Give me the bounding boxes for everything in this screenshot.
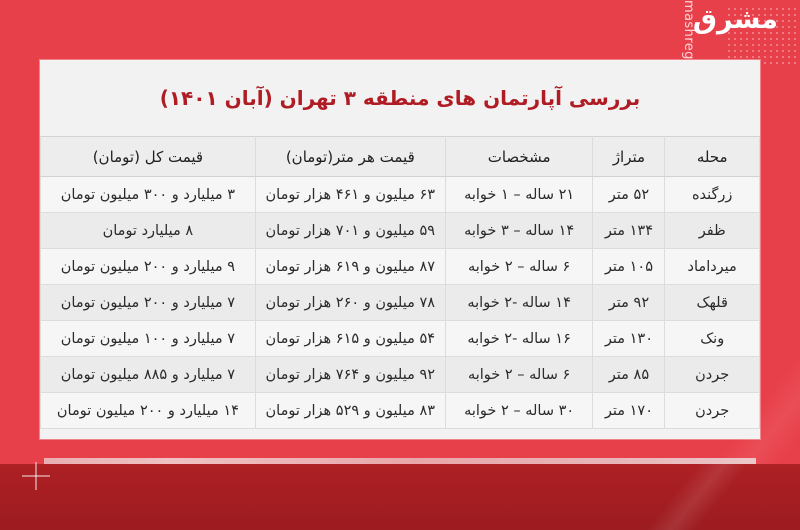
infographic-canvas: مشرق mashreghnews.ir بررسی آپارتمان های …: [0, 0, 800, 530]
cell-price-per-meter: ۷۸ میلیون و ۲۶۰ هزار تومان: [255, 285, 445, 321]
cell-price-per-meter: ۶۳ میلیون و ۴۶۱ هزار تومان: [255, 177, 445, 213]
table-row: جردن ۸۵ متر ۶ ساله – ۲ خوابه ۹۲ میلیون و…: [41, 357, 760, 393]
cell-specs: ۱۶ ساله -۲ خوابه: [445, 321, 593, 357]
cell-specs: ۳۰ ساله – ۲ خوابه: [445, 393, 593, 429]
column-header-area: متراژ: [593, 137, 665, 177]
cell-area: ۱۰۵ متر: [593, 249, 665, 285]
cell-neighborhood: میرداماد: [665, 249, 760, 285]
column-header-total-price: قیمت کل (تومان): [41, 137, 256, 177]
cell-price-per-meter: ۸۷ میلیون و ۶۱۹ هزار تومان: [255, 249, 445, 285]
cell-area: ۸۵ متر: [593, 357, 665, 393]
cell-specs: ۶ ساله – ۲ خوابه: [445, 249, 593, 285]
cell-total-price: ۷ میلیارد و ۸۸۵ میلیون تومان: [41, 357, 256, 393]
cell-area: ۵۲ متر: [593, 177, 665, 213]
cell-area: ۹۲ متر: [593, 285, 665, 321]
cell-price-per-meter: ۹۲ میلیون و ۷۶۴ هزار تومان: [255, 357, 445, 393]
cell-area: ۱۳۰ متر: [593, 321, 665, 357]
table-row: ظفر ۱۳۴ متر ۱۴ ساله – ۳ خوابه ۵۹ میلیون …: [41, 213, 760, 249]
content-card: بررسی آپارتمان های منطقه ۳ تهران (آبان ۱…: [40, 60, 760, 439]
cell-price-per-meter: ۵۴ میلیون و ۶۱۵ هزار تومان: [255, 321, 445, 357]
cell-total-price: ۷ میلیارد و ۱۰۰ میلیون تومان: [41, 321, 256, 357]
cell-total-price: ۳ میلیارد و ۳۰۰ میلیون تومان: [41, 177, 256, 213]
cell-specs: ۶ ساله – ۲ خوابه: [445, 357, 593, 393]
card-footer-spacer: [40, 429, 760, 439]
cell-specs: ۱۴ ساله -۲ خوابه: [445, 285, 593, 321]
cell-neighborhood: ظفر: [665, 213, 760, 249]
table-body: زرگنده ۵۲ متر ۲۱ ساله – ۱ خوابه ۶۳ میلیو…: [41, 177, 760, 429]
cell-total-price: ۷ میلیارد و ۲۰۰ میلیون تومان: [41, 285, 256, 321]
cell-total-price: ۹ میلیارد و ۲۰۰ میلیون تومان: [41, 249, 256, 285]
table-row: میرداماد ۱۰۵ متر ۶ ساله – ۲ خوابه ۸۷ میل…: [41, 249, 760, 285]
cell-total-price: ۱۴ میلیارد و ۲۰۰ میلیون تومان: [41, 393, 256, 429]
cell-neighborhood: ونک: [665, 321, 760, 357]
column-header-price-per-meter: قیمت هر متر(تومان): [255, 137, 445, 177]
cell-neighborhood: قلهک: [665, 285, 760, 321]
cell-price-per-meter: ۵۹ میلیون و ۷۰۱ هزار تومان: [255, 213, 445, 249]
title-bar: بررسی آپارتمان های منطقه ۳ تهران (آبان ۱…: [40, 60, 760, 136]
cell-total-price: ۸ میلیارد تومان: [41, 213, 256, 249]
cell-area: ۱۳۴ متر: [593, 213, 665, 249]
dot-pattern-decoration: [726, 6, 796, 64]
mashregh-news-logo-icon: مشرق: [693, 6, 778, 33]
cell-price-per-meter: ۸۳ میلیون و ۵۲۹ هزار تومان: [255, 393, 445, 429]
cell-neighborhood: جردن: [665, 357, 760, 393]
cell-specs: ۱۴ ساله – ۳ خوابه: [445, 213, 593, 249]
bottom-band-sheen-decoration: [542, 464, 800, 530]
table-row: جردن ۱۷۰ متر ۳۰ ساله – ۲ خوابه ۸۳ میلیون…: [41, 393, 760, 429]
table-row: ونک ۱۳۰ متر ۱۶ ساله -۲ خوابه ۵۴ میلیون و…: [41, 321, 760, 357]
page-title: بررسی آپارتمان های منطقه ۳ تهران (آبان ۱…: [160, 85, 641, 111]
cell-neighborhood: جردن: [665, 393, 760, 429]
cell-neighborhood: زرگنده: [665, 177, 760, 213]
table-header: محله متراژ مشخصات قیمت هر متر(تومان) قیم…: [41, 137, 760, 177]
apartments-table: محله متراژ مشخصات قیمت هر متر(تومان) قیم…: [40, 136, 760, 429]
table-row: زرگنده ۵۲ متر ۲۱ ساله – ۱ خوابه ۶۳ میلیو…: [41, 177, 760, 213]
cell-specs: ۲۱ ساله – ۱ خوابه: [445, 177, 593, 213]
column-header-specs: مشخصات: [445, 137, 593, 177]
table-header-row: محله متراژ مشخصات قیمت هر متر(تومان) قیم…: [41, 137, 760, 177]
table-row: قلهک ۹۲ متر ۱۴ ساله -۲ خوابه ۷۸ میلیون و…: [41, 285, 760, 321]
crosshair-mark-icon: [22, 462, 50, 490]
bottom-band: [0, 464, 800, 530]
column-header-neighborhood: محله: [665, 137, 760, 177]
cell-area: ۱۷۰ متر: [593, 393, 665, 429]
